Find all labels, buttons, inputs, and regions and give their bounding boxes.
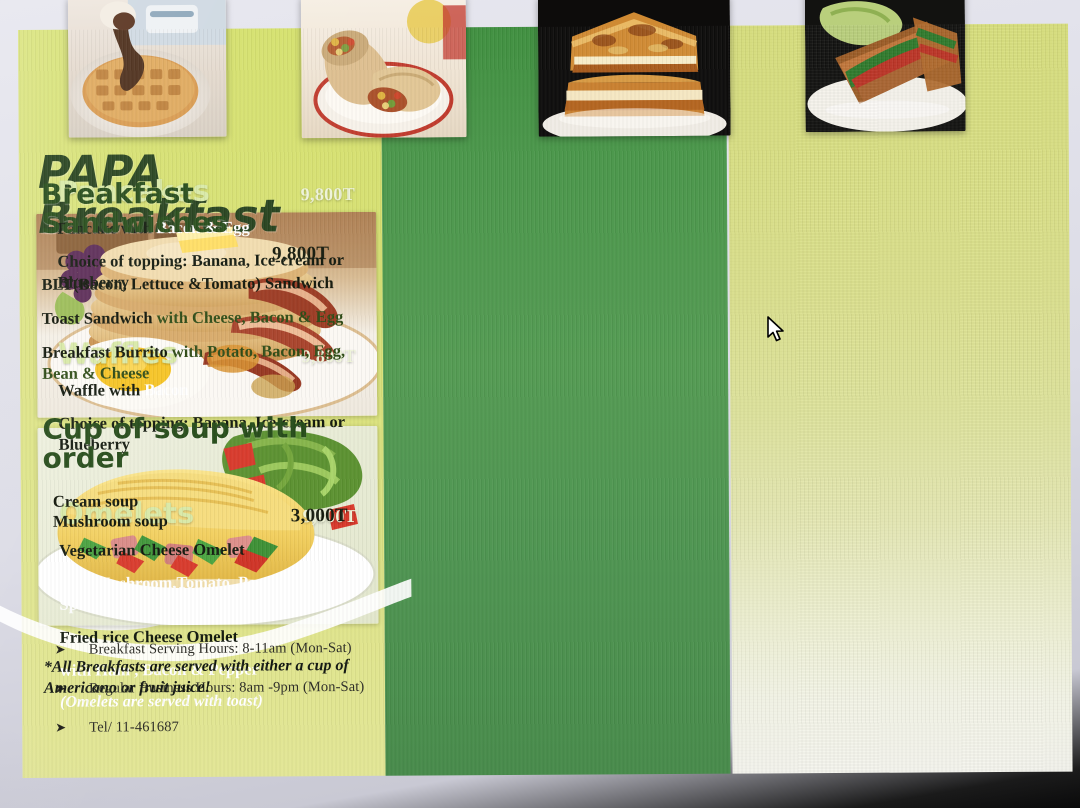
info-item-text: Tel/ 11-461687 [89,718,385,737]
blt-sandwich-photo [805,0,966,132]
sandwiches-heading: Breakfast Sandwiches [41,178,351,239]
line-part: Breakfast Burrito [42,342,172,362]
burrito-photo [301,0,467,138]
menu-line: Vegetarian Cheese Omelet [59,538,357,561]
panel-texture-right [728,24,1073,774]
sandwiches-price: 9,800T [272,243,329,264]
line-part: with Cheese, Bacon & Egg [157,307,344,327]
line-part: with Mushroom,Tomato, Pepper & Spinach [59,572,306,614]
right-panel [728,24,1073,774]
sandwich-item: Breakfast Burrito with Potato, Bacon, Eg… [42,341,352,385]
soup-heading: Cup of soup with order [42,413,352,474]
soup-names: Cream soupMushroom soup [53,491,168,533]
arrow-bullet-icon: ➤ [55,721,89,736]
soup-name: Mushroom soup [53,512,168,533]
line-part: BLT(Bacon, Lettuce &Tomato) Sandwich [41,273,333,294]
grilled-sandwich-photo [538,0,731,137]
middle-panel [381,26,731,776]
waffle-photo [68,0,227,138]
section-cup-of-soup: Cup of soup with order Cream soupMushroo… [42,413,353,533]
soup-name: Cream soup [53,491,168,512]
breakfast-footnote: *All Breakfasts are served with either a… [44,656,349,699]
sandwich-item: Toast Sandwich with Cheese, Bacon & Egg [42,307,352,330]
sandwich-item: BLT(Bacon, Lettuce &Tomato) Sandwich [41,273,351,296]
panel-texture-right-h [728,24,1073,774]
menu-line: Fried rice Cheese Omelet [60,625,358,648]
section-breakfast-sandwiches: Breakfast Sandwiches 9,800T BLT(Bacon, L… [41,178,352,397]
line-part: Fried rice Cheese Omelet [60,627,238,647]
panel-texture-mid [381,26,731,776]
photographed-menu-screen: PAPA Breakfast [0,0,1080,808]
line-part: Toast Sandwich [42,308,157,328]
soup-price: 3,000T [291,490,353,527]
menu-line: with Mushroom,Tomato, Pepper & Spinach [59,571,357,615]
line-part: Vegetarian Cheese Omelet [59,540,245,560]
sandwiches-price-row: 9,800T [41,243,351,267]
soup-rows: Cream soupMushroom soup 3,000T [43,490,353,533]
sandwich-item-list: BLT(Bacon, Lettuce &Tomato) SandwichToas… [41,273,352,385]
info-item: ➤Tel/ 11-461687 [55,718,385,737]
menu-board: PAPA Breakfast [18,24,1073,778]
